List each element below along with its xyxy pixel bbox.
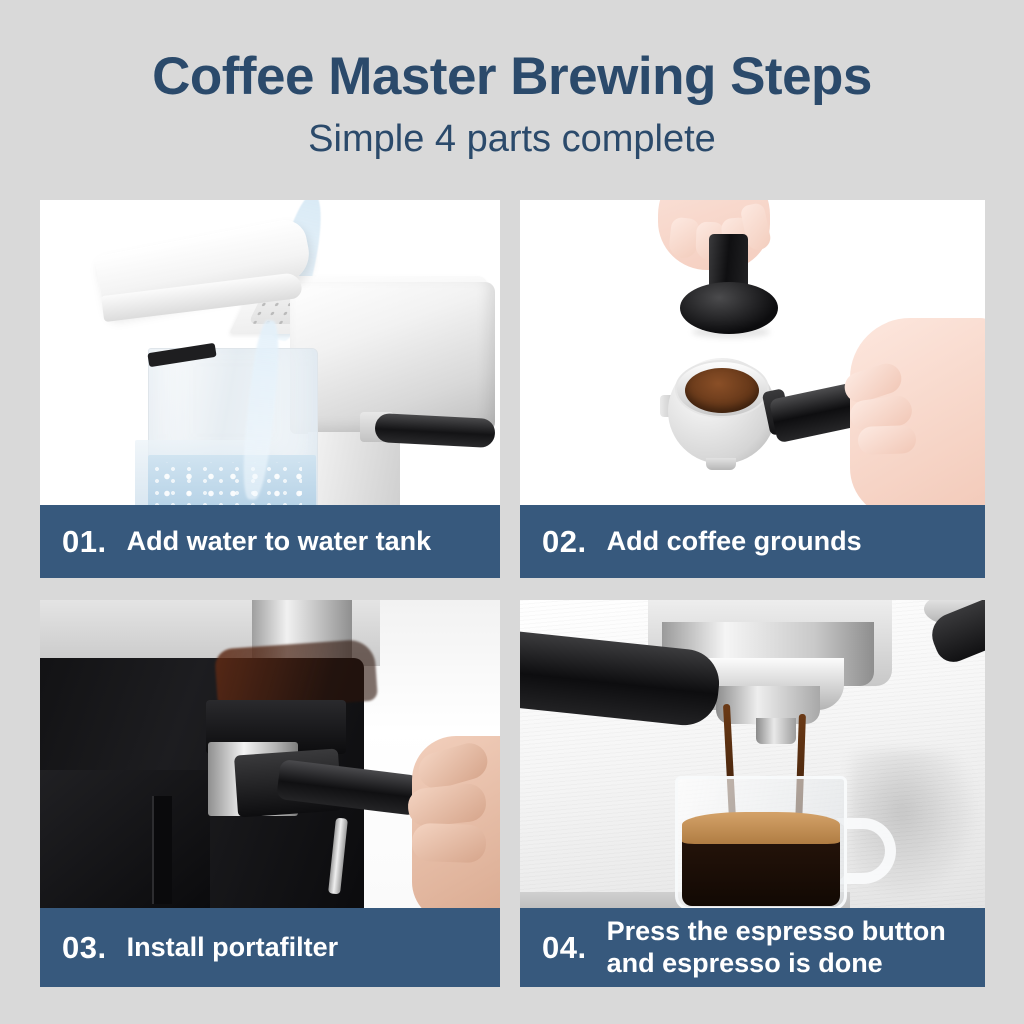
step-photo-04	[520, 600, 985, 908]
step-card-04[interactable]: 04. Press the espresso button and espres…	[520, 600, 985, 987]
portafilter-spout-block	[756, 718, 796, 744]
step-text-02: Add coffee grounds	[607, 526, 985, 557]
portafilter-handle	[374, 413, 495, 448]
step-number-01: 01.	[62, 524, 107, 560]
infographic-page: Coffee Master Brewing Steps Simple 4 par…	[0, 0, 1024, 1024]
step-card-02[interactable]: 02. Add coffee grounds	[520, 200, 985, 578]
tamper-shadow	[692, 326, 770, 338]
step-photo-02	[520, 200, 985, 505]
step-text-04: Press the espresso button and espresso i…	[607, 916, 985, 978]
step-photo-03	[40, 600, 500, 908]
header: Coffee Master Brewing Steps Simple 4 par…	[0, 0, 1024, 161]
step-photo-01	[40, 200, 500, 505]
machine-body	[290, 282, 495, 434]
step-card-03[interactable]: 03. Install portafilter	[40, 600, 500, 987]
step-caption-01: 01. Add water to water tank	[40, 505, 500, 578]
machine-base-column	[308, 432, 400, 505]
coffee-grounds	[685, 368, 759, 413]
step-number-04: 04.	[542, 930, 587, 966]
page-subtitle: Simple 4 parts complete	[0, 105, 1024, 161]
step-text-04-line1: Press the espresso button	[607, 916, 946, 946]
espresso-crema	[682, 812, 840, 844]
espresso-liquid	[682, 840, 840, 906]
steps-grid: 01. Add water to water tank	[40, 200, 985, 987]
machine-vent-slot	[152, 796, 172, 904]
step-number-03: 03.	[62, 930, 107, 966]
page-title: Coffee Master Brewing Steps	[0, 0, 1024, 105]
step-caption-03: 03. Install portafilter	[40, 908, 500, 987]
finger-icon	[858, 425, 917, 455]
step-caption-02: 02. Add coffee grounds	[520, 505, 985, 578]
step-card-01[interactable]: 01. Add water to water tank	[40, 200, 500, 578]
portafilter-ear-bottom	[706, 458, 736, 470]
water-bubbles-icon	[152, 462, 302, 505]
machine-front-panel	[40, 770, 210, 908]
step-text-04-line2: and espresso is done	[607, 948, 985, 979]
step-text-03: Install portafilter	[127, 932, 500, 963]
step-caption-04: 04. Press the espresso button and espres…	[520, 908, 985, 987]
step-number-02: 02.	[542, 524, 587, 560]
finger-icon	[411, 823, 486, 864]
step-text-01: Add water to water tank	[127, 526, 500, 557]
